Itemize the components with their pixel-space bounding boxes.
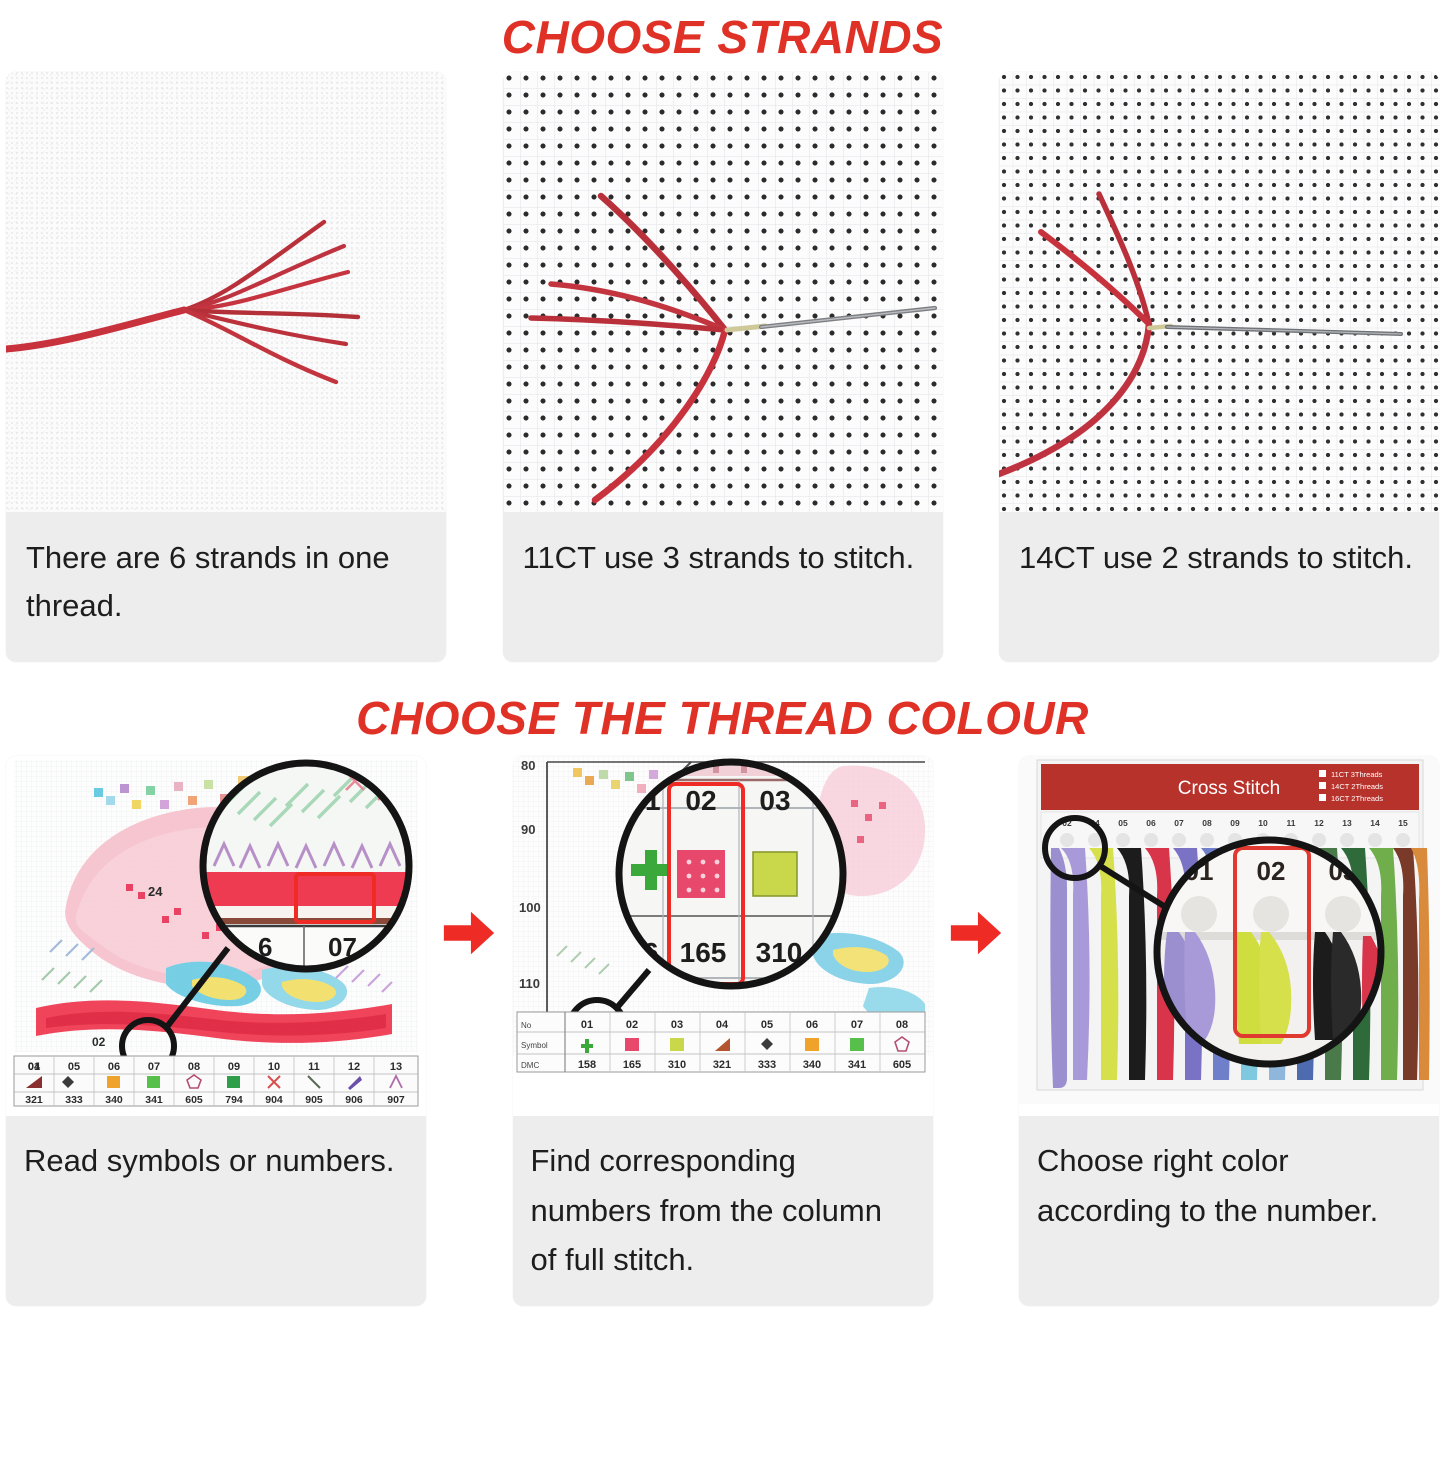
thread-num-07: 07 <box>1174 818 1184 828</box>
photo-chart-legend: 80 90 100 110 <box>513 756 933 1116</box>
thread-num-05: 05 <box>1118 818 1128 828</box>
legend-num-10: 10 <box>268 1061 280 1073</box>
legend2-num-04: 04 <box>715 1019 728 1031</box>
legend-code-321: 321 <box>25 1094 43 1106</box>
legend2-num-03: 03 <box>670 1019 682 1031</box>
card-choose-color: Cross Stitch 11CT 3Threads 14CT 2Threads… <box>1019 756 1439 1306</box>
legend-num-05: 05 <box>68 1061 80 1073</box>
legend-num-06: 06 <box>108 1061 120 1073</box>
legend-rowlabel-no: No <box>521 1021 532 1030</box>
two-strands-needle-illustration <box>999 72 1439 512</box>
photo-six-strands <box>6 72 446 512</box>
row-label-110: 110 <box>519 976 540 991</box>
photo-14ct-aida <box>999 72 1439 512</box>
legend-code-333: 333 <box>65 1094 83 1106</box>
thread-num-08: 08 <box>1202 818 1212 828</box>
card-find-numbers: 80 90 100 110 <box>513 756 933 1306</box>
thread-num-11: 11 <box>1287 818 1296 828</box>
checkbox-label-16ct: 16CT 2Threads <box>1331 794 1383 803</box>
row-label-80: 80 <box>521 758 535 773</box>
magnified-code-165: 165 <box>679 937 726 968</box>
chart-cell-label-02: 02 <box>92 1035 106 1049</box>
card-read-symbols: 24 02 <box>6 756 426 1306</box>
arrow-slot-2 <box>945 756 1007 962</box>
legend-rowlabel-dmc: DMC <box>521 1061 539 1070</box>
legend2-num-05: 05 <box>760 1019 772 1031</box>
legend-code-341: 341 <box>145 1094 163 1106</box>
checkbox-label-11ct: 11CT 3Threads <box>1331 770 1383 779</box>
row-label-100: 100 <box>519 900 541 915</box>
three-strands-needle-illustration <box>503 72 943 512</box>
legend2-code-165: 165 <box>622 1059 640 1071</box>
card-six-strands: There are 6 strands in one thread. <box>6 72 446 662</box>
magnified-col-03: 03 <box>759 785 790 816</box>
legend-code-905: 905 <box>305 1094 323 1106</box>
thread-num-06: 06 <box>1146 818 1156 828</box>
pattern-chart-illustration: 24 02 <box>6 756 426 1116</box>
magnified-thread-num-02: 02 <box>1257 856 1286 886</box>
chart-cell-label-24: 24 <box>148 884 163 899</box>
legend2-num-08: 08 <box>895 1019 907 1031</box>
legend-code-904: 904 <box>265 1094 283 1106</box>
magnified-col-02: 02 <box>685 785 716 816</box>
caption-read-symbols: Read symbols or numbers. <box>6 1116 426 1306</box>
thread-colour-card-row: 24 02 <box>0 756 1445 1306</box>
photo-pattern-chart: 24 02 <box>6 756 426 1116</box>
card-11ct: 11CT use 3 strands to stitch. <box>503 72 943 662</box>
legend-code-794: 794 <box>225 1094 243 1106</box>
card-title: Cross Stitch <box>1178 778 1280 799</box>
caption-six-strands: There are 6 strands in one thread. <box>6 512 446 662</box>
legend2-num-07: 07 <box>850 1019 862 1031</box>
six-strands-illustration <box>6 72 446 512</box>
caption-choose-color: Choose right color according to the numb… <box>1019 1116 1439 1306</box>
legend-num-07: 07 <box>148 1061 160 1073</box>
strands-card-row: There are 6 strands in one thread. 11CT … <box>0 72 1445 662</box>
thread-organiser-illustration: Cross Stitch 11CT 3Threads 14CT 2Threads… <box>1019 756 1439 1116</box>
legend2-code-340: 340 <box>802 1059 820 1071</box>
legend-code-340: 340 <box>105 1094 123 1106</box>
legend-code-906: 906 <box>345 1094 363 1106</box>
thread-num-15: 15 <box>1398 818 1408 828</box>
arrow-slot-1 <box>438 756 500 962</box>
caption-14ct: 14CT use 2 strands to stitch. <box>999 512 1439 662</box>
thread-num-12: 12 <box>1314 818 1324 828</box>
legend-num-11: 11 <box>308 1061 320 1073</box>
row-label-90: 90 <box>521 822 535 837</box>
legend-num-09: 09 <box>228 1061 240 1073</box>
photo-11ct-aida <box>503 72 943 512</box>
legend-code-605: 605 <box>185 1094 203 1106</box>
arrow-right-icon <box>947 904 1005 962</box>
checkbox-label-14ct: 14CT 2Threads <box>1331 782 1383 791</box>
thread-num-14: 14 <box>1370 818 1380 828</box>
section-heading-choose-strands: CHOOSE STRANDS <box>0 0 1445 72</box>
caption-11ct: 11CT use 3 strands to stitch. <box>503 512 943 662</box>
legend-table: 01 04 05 06 07 08 09 10 11 12 13 <box>14 1056 418 1106</box>
legend2-code-158: 158 <box>577 1059 595 1071</box>
legend2-num-02: 02 <box>625 1019 637 1031</box>
caption-find-numbers: Find corresponding numbers from the colu… <box>513 1116 933 1306</box>
legend2-code-341: 341 <box>847 1059 865 1071</box>
thread-num-09: 09 <box>1230 818 1240 828</box>
section-heading-choose-thread-colour: CHOOSE THE THREAD COLOUR <box>0 680 1445 756</box>
legend-code-907: 907 <box>387 1094 405 1106</box>
legend-num-08: 08 <box>188 1061 200 1073</box>
legend-num-04: 04 <box>28 1061 41 1073</box>
card-14ct: 14CT use 2 strands to stitch. <box>999 72 1439 662</box>
legend2-code-333: 333 <box>757 1059 775 1071</box>
chart-legend-illustration: 80 90 100 110 <box>513 756 933 1116</box>
legend2-num-01: 01 <box>580 1019 592 1031</box>
legend-num-13: 13 <box>390 1061 402 1073</box>
thread-num-13: 13 <box>1342 818 1352 828</box>
thread-num-10: 10 <box>1258 818 1268 828</box>
arrow-right-icon <box>440 904 498 962</box>
photo-thread-card: Cross Stitch 11CT 3Threads 14CT 2Threads… <box>1019 756 1439 1116</box>
legend-table: No Symbol DMC 01 02 03 04 05 06 07 08 <box>517 1012 925 1072</box>
legend-rowlabel-symbol: Symbol <box>521 1041 548 1050</box>
legend2-code-310: 310 <box>667 1059 685 1071</box>
legend2-num-06: 06 <box>805 1019 817 1031</box>
legend2-code-321: 321 <box>712 1059 730 1071</box>
legend2-code-605: 605 <box>892 1059 910 1071</box>
legend-num-12: 12 <box>348 1061 360 1073</box>
